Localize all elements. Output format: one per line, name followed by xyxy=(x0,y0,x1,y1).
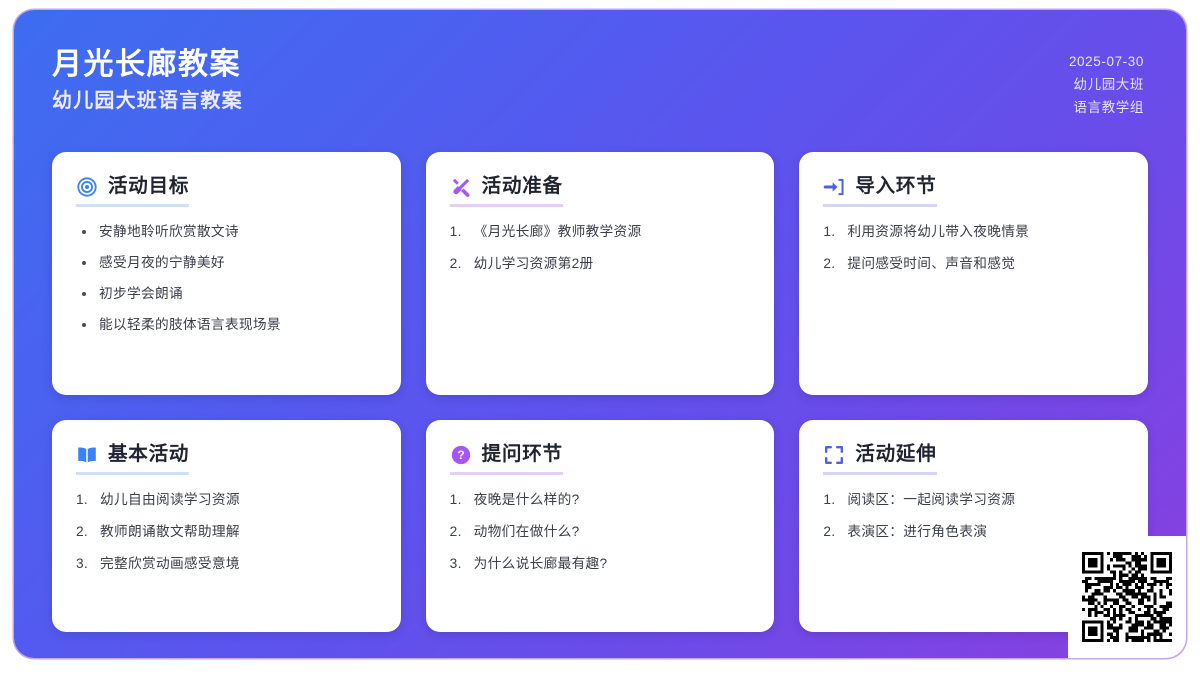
list-item: 安静地聆听欣赏散文诗 xyxy=(76,222,377,242)
open-book-icon xyxy=(76,444,98,466)
target-icon xyxy=(76,176,98,198)
card-list-preparation: 1.《月光长廊》教师教学资源2.幼儿学习资源第2册 xyxy=(450,222,751,274)
card-header-introduction: 导入环节 xyxy=(823,176,936,207)
title-block: 月光长廊教案 幼儿园大班语言教案 xyxy=(52,48,243,112)
list-item-text: 能以轻柔的肢体语言表现场景 xyxy=(99,315,281,335)
list-item-text: 《月光长廊》教师教学资源 xyxy=(474,222,642,242)
card-title-main-activity: 基本活动 xyxy=(108,445,189,465)
card-title-questions: 提问环节 xyxy=(482,445,563,465)
list-item-text: 幼儿学习资源第2册 xyxy=(474,254,594,274)
list-item-text: 安静地聆听欣赏散文诗 xyxy=(99,222,239,242)
list-item-text: 感受月夜的宁静美好 xyxy=(99,253,225,273)
number-marker: 1. xyxy=(450,222,465,242)
list-item-text: 完整欣赏动画感受意境 xyxy=(100,554,240,574)
list-item: 2.动物们在做什么? xyxy=(450,522,751,542)
list-item: 1.《月光长廊》教师教学资源 xyxy=(450,222,751,242)
expand-corners-icon xyxy=(823,444,845,466)
meta-grade: 幼儿园大班 xyxy=(1074,76,1145,94)
slide-root: 月光长廊教案 幼儿园大班语言教案 2025-07-30 幼儿园大班 语言教学组 … xyxy=(14,10,1186,658)
list-item: 3.为什么说长廊最有趣? xyxy=(450,554,751,574)
card-list-questions: 1.夜晚是什么样的?2.动物们在做什么?3.为什么说长廊最有趣? xyxy=(450,490,751,574)
svg-text:?: ? xyxy=(457,448,464,462)
list-item-text: 动物们在做什么? xyxy=(474,522,580,542)
card-header-main-activity: 基本活动 xyxy=(76,444,189,475)
bullet-marker xyxy=(82,230,86,234)
card-header-extension: 活动延伸 xyxy=(823,444,936,475)
number-marker: 3. xyxy=(450,554,465,574)
card-title-objectives: 活动目标 xyxy=(108,177,189,197)
number-marker: 3. xyxy=(76,554,91,574)
card-list-main-activity: 1.幼儿自由阅读学习资源2.教师朗诵散文帮助理解3.完整欣赏动画感受意境 xyxy=(76,490,377,574)
card-list-introduction: 1.利用资源将幼儿带入夜晚情景2.提问感受时间、声音和感觉 xyxy=(823,222,1124,274)
card-objectives: 活动目标安静地聆听欣赏散文诗感受月夜的宁静美好初步学会朗诵能以轻柔的肢体语言表现… xyxy=(52,152,401,395)
qr-panel xyxy=(1068,536,1186,658)
number-marker: 2. xyxy=(450,522,465,542)
card-preparation: 活动准备1.《月光长廊》教师教学资源2.幼儿学习资源第2册 xyxy=(426,152,775,395)
list-item: 初步学会朗诵 xyxy=(76,284,377,304)
list-item: 1.阅读区：一起阅读学习资源 xyxy=(823,490,1124,510)
meta-group: 语言教学组 xyxy=(1074,99,1145,117)
bullet-marker xyxy=(82,292,86,296)
header-meta: 2025-07-30 幼儿园大班 语言教学组 xyxy=(1069,48,1144,118)
list-item: 1.利用资源将幼儿带入夜晚情景 xyxy=(823,222,1124,242)
number-marker: 2. xyxy=(823,522,838,542)
sign-in-icon xyxy=(823,176,845,198)
number-marker: 1. xyxy=(823,490,838,510)
bullet-marker xyxy=(82,323,86,327)
card-main-activity: 基本活动1.幼儿自由阅读学习资源2.教师朗诵散文帮助理解3.完整欣赏动画感受意境 xyxy=(52,420,401,632)
list-item: 2.提问感受时间、声音和感觉 xyxy=(823,254,1124,274)
card-introduction: 导入环节1.利用资源将幼儿带入夜晚情景2.提问感受时间、声音和感觉 xyxy=(799,152,1148,395)
list-item: 2.教师朗诵散文帮助理解 xyxy=(76,522,377,542)
list-item-text: 利用资源将幼儿带入夜晚情景 xyxy=(847,222,1029,242)
number-marker: 2. xyxy=(450,254,465,274)
list-item: 能以轻柔的肢体语言表现场景 xyxy=(76,315,377,335)
list-item-text: 教师朗诵散文帮助理解 xyxy=(100,522,240,542)
list-item: 3.完整欣赏动画感受意境 xyxy=(76,554,377,574)
card-title-introduction: 导入环节 xyxy=(855,177,936,197)
slide-header: 月光长廊教案 幼儿园大班语言教案 2025-07-30 幼儿园大班 语言教学组 xyxy=(14,10,1186,145)
number-marker: 1. xyxy=(450,490,465,510)
qr-code[interactable] xyxy=(1082,552,1172,642)
bullet-marker xyxy=(82,261,86,265)
list-item: 感受月夜的宁静美好 xyxy=(76,253,377,273)
list-item-text: 阅读区：一起阅读学习资源 xyxy=(847,490,1015,510)
card-grid: 活动目标安静地聆听欣赏散文诗感受月夜的宁静美好初步学会朗诵能以轻柔的肢体语言表现… xyxy=(52,152,1148,632)
card-list-objectives: 安静地聆听欣赏散文诗感受月夜的宁静美好初步学会朗诵能以轻柔的肢体语言表现场景 xyxy=(76,222,377,334)
card-header-questions: ?提问环节 xyxy=(450,444,563,475)
number-marker: 1. xyxy=(823,222,838,242)
list-item: 2.幼儿学习资源第2册 xyxy=(450,254,751,274)
list-item: 1.幼儿自由阅读学习资源 xyxy=(76,490,377,510)
tools-icon xyxy=(450,176,472,198)
number-marker: 2. xyxy=(823,254,838,274)
list-item-text: 初步学会朗诵 xyxy=(99,284,183,304)
list-item: 1.夜晚是什么样的? xyxy=(450,490,751,510)
card-title-extension: 活动延伸 xyxy=(855,445,936,465)
card-title-preparation: 活动准备 xyxy=(482,177,563,197)
list-item-text: 夜晚是什么样的? xyxy=(474,490,580,510)
question-circle-icon: ? xyxy=(450,444,472,466)
card-questions: ?提问环节1.夜晚是什么样的?2.动物们在做什么?3.为什么说长廊最有趣? xyxy=(426,420,775,632)
list-item-text: 幼儿自由阅读学习资源 xyxy=(100,490,240,510)
list-item-text: 表演区：进行角色表演 xyxy=(847,522,987,542)
number-marker: 2. xyxy=(76,522,91,542)
card-list-extension: 1.阅读区：一起阅读学习资源2.表演区：进行角色表演 xyxy=(823,490,1124,542)
meta-date: 2025-07-30 xyxy=(1069,53,1144,71)
list-item-text: 为什么说长廊最有趣? xyxy=(474,554,608,574)
list-item-text: 提问感受时间、声音和感觉 xyxy=(847,254,1015,274)
card-header-objectives: 活动目标 xyxy=(76,176,189,207)
card-header-preparation: 活动准备 xyxy=(450,176,563,207)
page-title: 月光长廊教案 xyxy=(52,48,243,81)
number-marker: 1. xyxy=(76,490,91,510)
page-subtitle: 幼儿园大班语言教案 xyxy=(52,90,243,112)
